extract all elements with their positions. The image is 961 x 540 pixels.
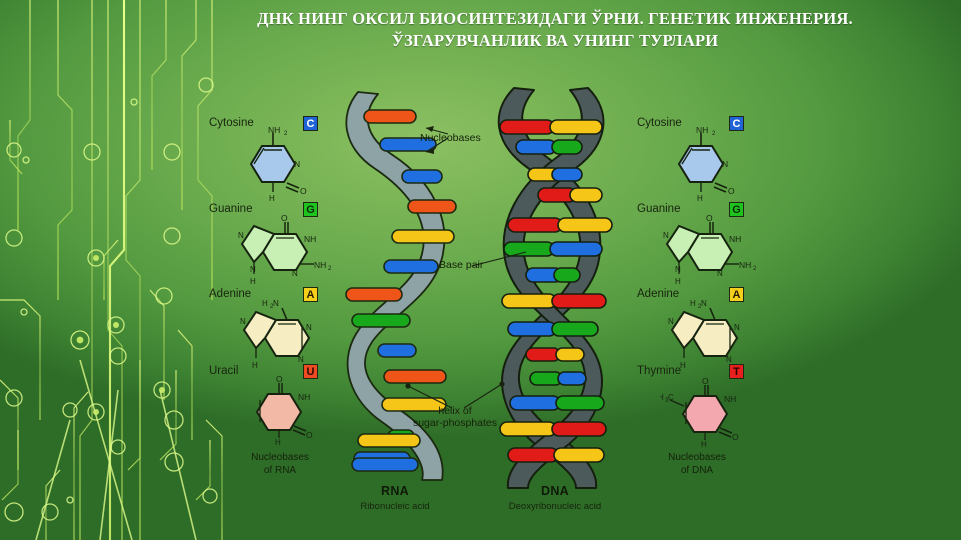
svg-text:NH: NH xyxy=(304,234,316,244)
base-pair-leader-line xyxy=(470,250,530,296)
left-molecule-label-uracil: Uracil xyxy=(209,365,238,377)
annotation-helix-of-sugar-phosphates: helix of sugar-phosphates xyxy=(405,405,505,429)
svg-text:2: 2 xyxy=(284,131,288,137)
left-column-caption: Nucleobases of RNA xyxy=(228,452,332,477)
annotation-helix-line-2: sugar-phosphates xyxy=(405,417,505,429)
svg-text:NH: NH xyxy=(739,260,751,270)
svg-text:O: O xyxy=(276,374,283,384)
svg-text:O: O xyxy=(728,186,735,196)
right-caption-line-1: Nucleobases xyxy=(645,452,749,465)
adenine-structure-right: H 2 N N N N H xyxy=(660,296,764,370)
svg-text:O: O xyxy=(706,213,713,223)
svg-text:NH: NH xyxy=(729,234,741,244)
svg-text:NH: NH xyxy=(298,392,310,402)
guanine-structure-right: O NH N NH 2 N N H xyxy=(655,212,761,288)
svg-text:H: H xyxy=(701,440,707,448)
svg-text:H: H xyxy=(269,194,275,202)
svg-text:N: N xyxy=(292,269,298,278)
thymine-structure-right: O NH H 3 C O H xyxy=(660,374,760,448)
svg-text:H: H xyxy=(250,277,256,286)
rna-title: RNA xyxy=(350,484,440,498)
uracil-structure-left: O NH O H xyxy=(240,374,332,446)
svg-text:N: N xyxy=(298,355,304,364)
svg-text:H: H xyxy=(660,393,664,402)
slide-canvas: ДНК НИНГ ОКСИЛ БИОСИНТЕЗИДАГИ ЎРНИ. ГЕНЕ… xyxy=(0,0,961,540)
svg-text:O: O xyxy=(300,186,307,196)
svg-text:O: O xyxy=(702,376,709,386)
cytosine-structure-right: NH 2 N O H xyxy=(660,126,760,202)
svg-text:NH: NH xyxy=(268,126,280,135)
dna-rna-diagram: Cytosine C NH 2 N O H Guanine G O NH N xyxy=(0,0,961,540)
guanine-structure-left: O NH N NH 2 N N H xyxy=(230,212,336,288)
annotation-helix-line-1: helix of xyxy=(405,405,505,417)
annotation-base-pair: Base pair xyxy=(439,259,483,271)
svg-text:NH: NH xyxy=(724,394,736,404)
svg-text:NH: NH xyxy=(314,260,326,270)
dna-title: DNA xyxy=(510,484,600,498)
svg-text:H: H xyxy=(690,299,696,308)
svg-text:H: H xyxy=(275,438,281,446)
svg-text:N: N xyxy=(250,265,256,274)
svg-text:2: 2 xyxy=(712,131,716,137)
dna-subtitle: Deoxyribonucleic acid xyxy=(490,501,620,512)
right-caption-line-2: of DNA xyxy=(645,465,749,478)
svg-text:H: H xyxy=(697,194,703,202)
svg-text:N: N xyxy=(675,265,681,274)
left-caption-line-1: Nucleobases xyxy=(228,452,332,465)
svg-text:N: N xyxy=(240,317,246,326)
svg-text:N: N xyxy=(668,317,674,326)
svg-text:O: O xyxy=(732,432,739,442)
svg-text:N: N xyxy=(306,323,312,332)
svg-text:N: N xyxy=(663,231,669,240)
svg-text:2: 2 xyxy=(753,266,757,272)
svg-text:H: H xyxy=(252,361,258,370)
svg-text:N: N xyxy=(273,299,279,308)
svg-text:N: N xyxy=(726,355,732,364)
svg-text:N: N xyxy=(238,231,244,240)
svg-text:O: O xyxy=(306,430,313,440)
svg-text:O: O xyxy=(281,213,288,223)
svg-text:N: N xyxy=(722,159,728,169)
rna-subtitle: Ribonucleic acid xyxy=(340,501,450,512)
svg-text:N: N xyxy=(734,323,740,332)
adenine-structure-left: H 2 N N N N H xyxy=(232,296,336,370)
svg-text:H: H xyxy=(675,277,681,286)
svg-text:N: N xyxy=(717,269,723,278)
annotation-nucleobases: Nucleobases xyxy=(420,132,481,144)
svg-text:N: N xyxy=(701,299,707,308)
svg-text:NH: NH xyxy=(696,126,708,135)
cytosine-structure-left: NH 2 N O H xyxy=(232,126,332,202)
svg-text:H: H xyxy=(262,299,268,308)
svg-text:C: C xyxy=(668,393,674,402)
left-caption-line-2: of RNA xyxy=(228,465,332,478)
right-column-caption: Nucleobases of DNA xyxy=(645,452,749,477)
svg-text:N: N xyxy=(294,159,300,169)
